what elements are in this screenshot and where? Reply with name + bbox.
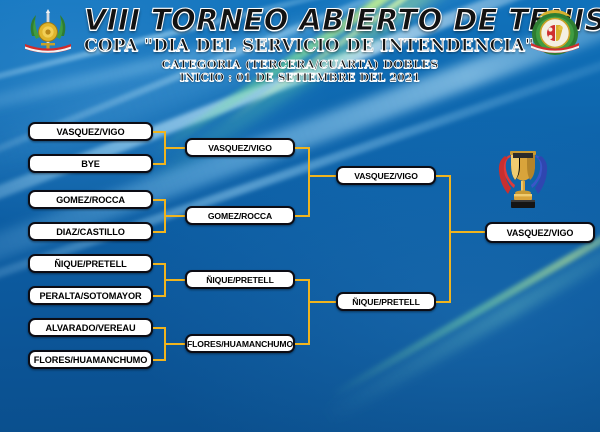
tournament-bracket-poster: VIII TORNEO ABIERTO DE TENIS COPA "DIA D… [0, 0, 600, 432]
bracket-connector [295, 215, 309, 217]
bracket-slot-r2-2[interactable]: GOMEZ/ROCCA [185, 206, 295, 225]
bracket-connector [436, 301, 450, 303]
bracket-slot-r2-3[interactable]: ÑIQUE/PRETELL [185, 270, 295, 289]
bracket-slot-champion[interactable]: VASQUEZ/VIGO [485, 222, 595, 243]
bracket-slot-r3-2[interactable]: ÑIQUE/PRETELL [336, 292, 436, 311]
bracket-connector [449, 231, 485, 233]
bracket-slot-r1-4[interactable]: DIAZ/CASTILLO [28, 222, 153, 241]
bracket-slot-r1-1[interactable]: VASQUEZ/VIGO [28, 122, 153, 141]
bracket-connector [164, 279, 185, 281]
bracket-slot-r2-4[interactable]: FLORES/HUAMANCHUMO [185, 334, 295, 353]
bracket-connector [164, 215, 185, 217]
bracket-connector [295, 343, 309, 345]
bracket-slot-r1-6[interactable]: PERALTA/SOTOMAYOR [28, 286, 153, 305]
bracket-connector [308, 147, 310, 217]
bracket-tree: VASQUEZ/VIGO BYE GOMEZ/ROCCA DIAZ/CASTIL… [0, 0, 600, 432]
bracket-slot-r2-1[interactable]: VASQUEZ/VIGO [185, 138, 295, 157]
bracket-slot-r3-1[interactable]: VASQUEZ/VIGO [336, 166, 436, 185]
bracket-connector [449, 175, 451, 303]
bracket-slot-r1-7[interactable]: ALVARADO/VEREAU [28, 318, 153, 337]
bracket-slot-r1-3[interactable]: GOMEZ/ROCCA [28, 190, 153, 209]
bracket-slot-r1-2[interactable]: BYE [28, 154, 153, 173]
bracket-connector [308, 279, 310, 345]
bracket-connector [308, 301, 336, 303]
bracket-slot-r1-5[interactable]: ÑIQUE/PRETELL [28, 254, 153, 273]
bracket-connector [436, 175, 450, 177]
bracket-connector [164, 147, 185, 149]
bracket-connector [164, 343, 185, 345]
bracket-connector [308, 175, 336, 177]
trophy-icon [497, 141, 549, 211]
bracket-slot-r1-8[interactable]: FLORES/HUAMANCHUMO [28, 350, 153, 369]
bracket-connector [295, 279, 309, 281]
bracket-connector [295, 147, 309, 149]
